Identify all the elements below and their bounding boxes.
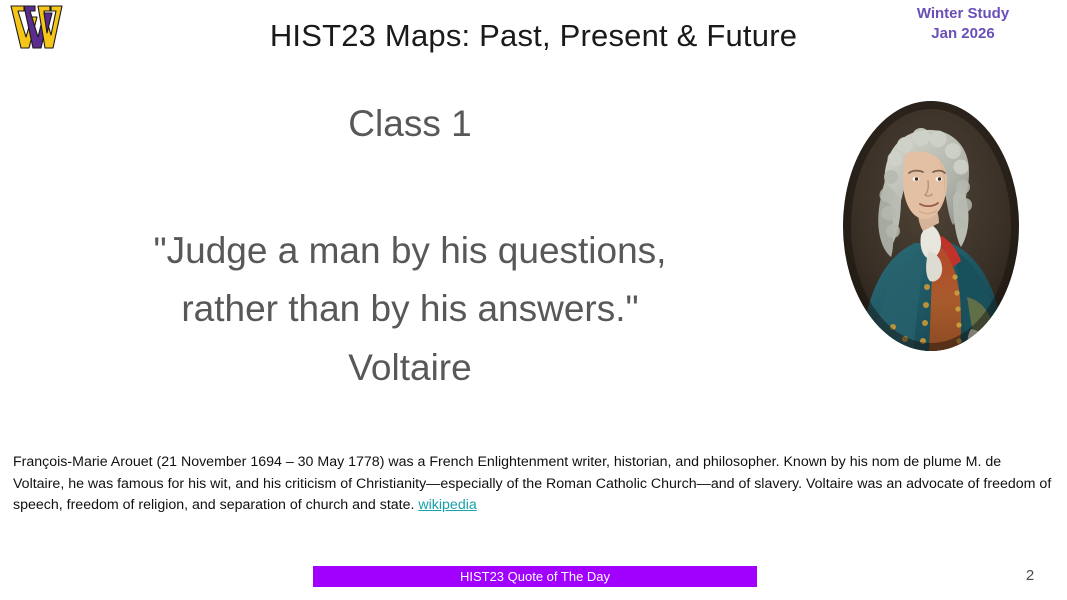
page-number: 2 xyxy=(1018,567,1042,584)
bio-paragraph: François-Marie Arouet (21 November 1694 … xyxy=(13,452,1056,517)
term-line-1: Winter Study xyxy=(883,4,1043,24)
bio-text: François-Marie Arouet (21 November 1694 … xyxy=(13,454,1051,513)
quote-line-1: "Judge a man by his questions, xyxy=(60,222,760,280)
footer-banner: HIST23 Quote of The Day xyxy=(313,566,757,587)
quote-block: "Judge a man by his questions, rather th… xyxy=(60,222,760,397)
term-line-2: Jan 2026 xyxy=(883,24,1043,44)
footer-banner-label: HIST23 Quote of The Day xyxy=(460,569,610,584)
quote-line-2: rather than by his answers." xyxy=(60,280,760,338)
quote-attribution: Voltaire xyxy=(60,339,760,397)
slide: HIST23 Maps: Past, Present & Future Wint… xyxy=(0,0,1067,600)
wikipedia-link[interactable]: wikipedia xyxy=(418,497,476,513)
term-label: Winter Study Jan 2026 xyxy=(883,4,1043,45)
voltaire-portrait xyxy=(843,101,1019,351)
class-label: Class 1 xyxy=(60,103,760,145)
